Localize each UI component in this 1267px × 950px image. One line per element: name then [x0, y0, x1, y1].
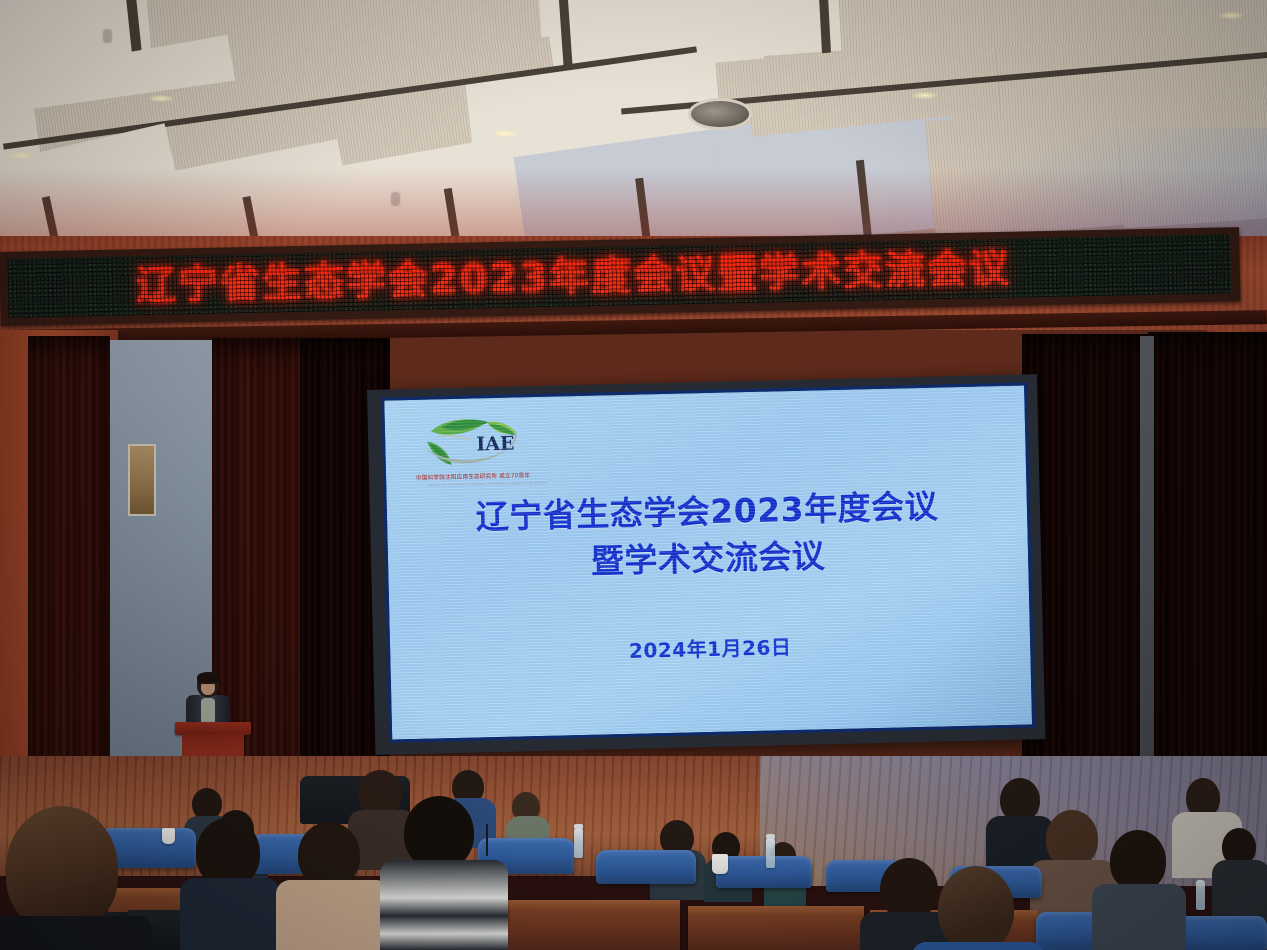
- bottle-cap: [766, 834, 775, 839]
- projection-screen: IAE 中国科学院沈阳应用生态研究所 成立70周年 INSTITUTE OF A…: [367, 374, 1045, 755]
- ceiling: [0, 0, 1267, 258]
- wall-panel-right: [1140, 336, 1154, 802]
- attendee-body: [0, 916, 152, 950]
- presenter-hair: [197, 672, 219, 684]
- conference-hall-photo: 辽宁省生态学会2023年度会议暨学术交流会议: [0, 0, 1267, 950]
- water-bottle: [1196, 880, 1205, 910]
- ceiling-downlight: [148, 95, 174, 102]
- attendee-body: [1212, 860, 1267, 920]
- slide-title: 辽宁省生态学会2023年度会议 暨学术交流会议: [387, 481, 1029, 590]
- sprinkler-head: [392, 193, 399, 205]
- attendee-head: [404, 796, 474, 870]
- attendee-head: [880, 858, 938, 920]
- attendee-body: [380, 860, 508, 950]
- stage-curtain-left: [28, 336, 110, 806]
- attendee-head: [938, 866, 1014, 950]
- ceiling-downlight: [912, 92, 938, 99]
- attendee-body: [912, 942, 1044, 950]
- slide-date: 2024年1月26日: [390, 625, 1031, 669]
- ceiling-downlight: [1218, 12, 1244, 19]
- water-bottle: [766, 838, 775, 868]
- water-bottle: [574, 828, 583, 858]
- ceiling-downlight: [492, 130, 518, 137]
- microphone-stand: [486, 824, 488, 856]
- iae-logo: IAE 中国科学院沈阳应用生态研究所 成立70周年 INSTITUTE OF A…: [413, 413, 539, 492]
- attendee-head: [1110, 830, 1166, 892]
- ceiling-downlight: [8, 152, 34, 159]
- desk-top: [500, 900, 680, 910]
- wall-art-frame: [128, 444, 156, 516]
- attendee-body: [1092, 884, 1186, 950]
- svg-text:IAE: IAE: [476, 433, 515, 456]
- seat: [716, 856, 812, 888]
- sprinkler-head: [104, 30, 111, 42]
- bottle-cap: [574, 824, 583, 829]
- attendee-head: [298, 822, 360, 888]
- paper-cup: [712, 854, 728, 874]
- desk: [500, 900, 680, 950]
- screen-surface: IAE 中国科学院沈阳应用生态研究所 成立70周年 INSTITUTE OF A…: [381, 382, 1035, 742]
- audience-area: [0, 770, 1267, 950]
- ceiling-speaker: [688, 98, 752, 130]
- slide: IAE 中国科学院沈阳应用生态研究所 成立70周年 INSTITUTE OF A…: [384, 386, 1032, 740]
- paper-cup: [162, 828, 175, 844]
- attendee-head: [6, 806, 118, 930]
- desk: [688, 906, 864, 950]
- seat: [596, 850, 696, 884]
- desk-top: [688, 906, 864, 916]
- attendee-body: [276, 880, 390, 950]
- led-banner-text: 辽宁省生态学会2023年度会议暨学术交流会议: [136, 248, 1012, 306]
- stage-curtain-far-right: [1148, 332, 1267, 806]
- attendee-body: [180, 878, 280, 950]
- iae-leaf-logo-icon: IAE: [413, 413, 538, 476]
- podium-top: [175, 722, 251, 735]
